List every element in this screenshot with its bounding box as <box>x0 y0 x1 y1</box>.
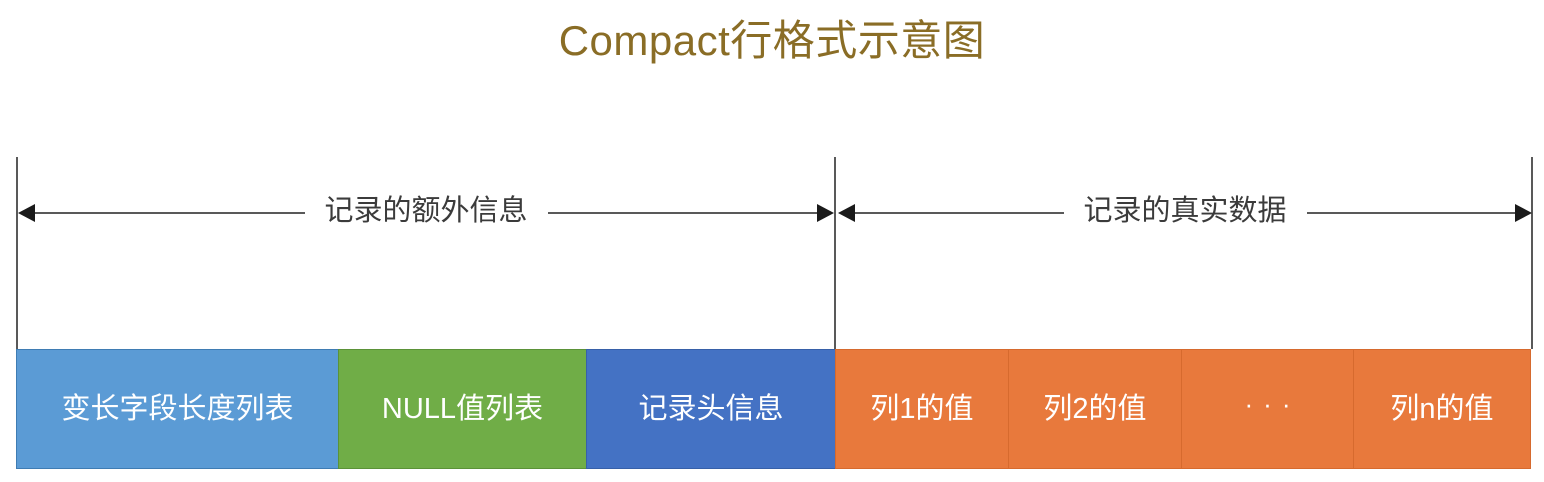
segment-column-2-value: 列2的值 <box>1008 349 1182 469</box>
segment-label: 列2的值 <box>1043 392 1146 426</box>
segment-null-value-list: NULL值列表 <box>338 349 587 469</box>
dimension-label-real-data: 记录的真实数据 <box>1064 194 1307 228</box>
arrow-right-icon <box>1515 204 1532 222</box>
dimension-line <box>855 212 1064 214</box>
guide-line-right <box>1531 157 1533 349</box>
segment-label: NULL值列表 <box>382 392 543 426</box>
dimension-line <box>548 212 818 214</box>
arrow-left-icon <box>838 204 855 222</box>
dimension-real-data: 记录的真实数据 <box>838 196 1532 230</box>
dimension-extra-info: 记录的额外信息 <box>18 196 834 230</box>
dimension-label-extra-info: 记录的额外信息 <box>305 194 548 228</box>
dimension-line <box>35 212 305 214</box>
segment-column-ellipsis: ··· <box>1181 349 1354 469</box>
segment-label: 记录头信息 <box>638 392 783 426</box>
segment-var-length-field-list: 变长字段长度列表 <box>16 349 339 469</box>
arrow-left-icon <box>18 204 35 222</box>
record-format-bar: 变长字段长度列表 NULL值列表 记录头信息 列1的值 列2的值 ··· 列n的… <box>16 349 1531 469</box>
guide-line-left <box>16 157 18 351</box>
arrow-right-icon <box>817 204 834 222</box>
segment-column-1-value: 列1的值 <box>835 349 1009 469</box>
segment-column-n-value: 列n的值 <box>1353 349 1531 469</box>
segment-label: 列n的值 <box>1390 392 1493 426</box>
diagram-canvas: Compact行格式示意图 记录的额外信息 记录的真实数据 变长字段长度列表 N… <box>0 0 1544 482</box>
segment-label: 列1的值 <box>870 392 973 426</box>
segment-label: ··· <box>1235 387 1301 421</box>
segment-record-header: 记录头信息 <box>586 349 836 469</box>
guide-line-middle <box>834 157 836 349</box>
page-title: Compact行格式示意图 <box>0 14 1544 68</box>
segment-label: 变长字段长度列表 <box>61 392 293 426</box>
dimension-line <box>1307 212 1516 214</box>
